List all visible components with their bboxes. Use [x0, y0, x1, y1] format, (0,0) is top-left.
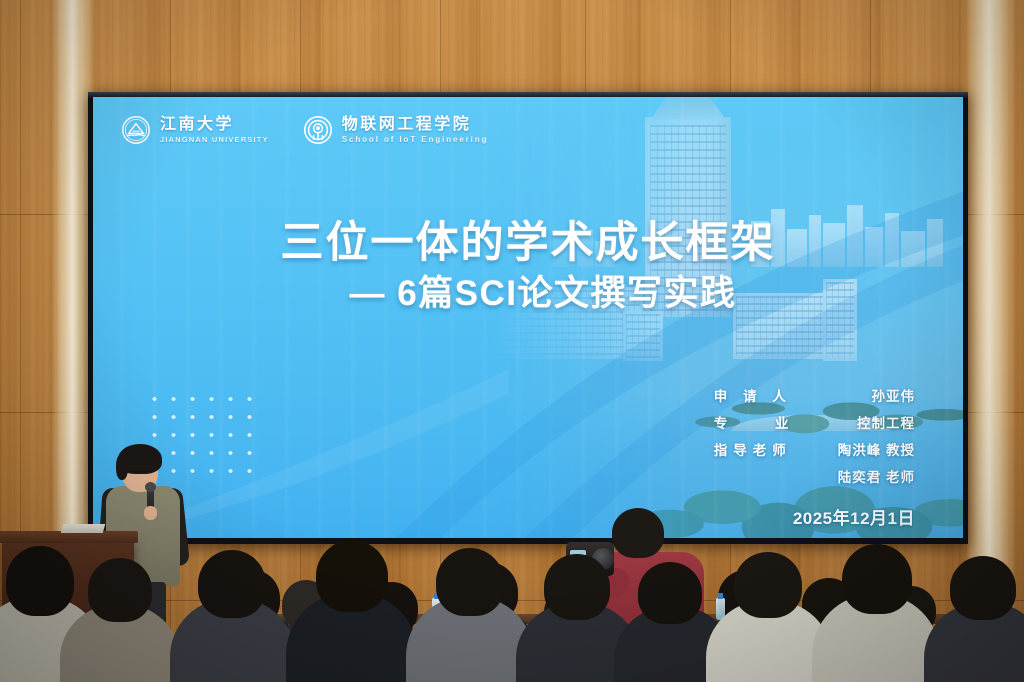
jiangnan-university-logo: 江南大学 JIANGNAN UNIVERSITY: [121, 115, 269, 145]
slide-logo-row: 江南大学 JIANGNAN UNIVERSITY 物联网工程学院: [121, 115, 488, 145]
info-label-advisor: 指导老师: [714, 439, 792, 459]
jiangnan-university-emblem-icon: [121, 115, 151, 145]
jiangnan-university-name-en: JIANGNAN UNIVERSITY: [160, 136, 269, 143]
led-display-bezel: 江南大学 JIANGNAN UNIVERSITY 物联网工程学院: [88, 92, 968, 544]
info-value-advisor-second: 陆奕君 老师: [838, 466, 915, 486]
info-value-applicant: 孙亚伟: [872, 385, 916, 405]
info-row-advisor: 指导老师 陶洪峰 教授: [714, 439, 915, 459]
audience-head-front: [842, 544, 912, 614]
info-label-major: 专 业: [714, 412, 811, 432]
audience-head-front: [734, 552, 802, 618]
audience-head-front: [436, 548, 504, 616]
audience-head-front: [6, 546, 74, 616]
info-label-applicant: 申 请 人: [714, 385, 792, 405]
slide-title-subtitle: — 6篇SCI论文撰写实践: [93, 273, 963, 315]
info-value-major: 控制工程: [857, 412, 915, 432]
audience: [0, 502, 1024, 682]
school-of-iot-name-cn: 物联网工程学院: [342, 117, 489, 133]
jiangnan-university-name-cn: 江南大学: [160, 117, 269, 133]
slide-title-block: 三位一体的学术成长框架 — 6篇SCI论文撰写实践: [93, 219, 963, 315]
school-of-iot-emblem-icon: [303, 115, 333, 145]
info-row-major: 专 业 控制工程: [714, 412, 915, 432]
audience-head-front: [638, 562, 702, 624]
info-value-advisor: 陶洪峰 教授: [838, 439, 915, 459]
audience-head-front: [88, 558, 152, 622]
slide-title-main: 三位一体的学术成长框架: [93, 219, 963, 267]
audience-head-front: [198, 550, 266, 618]
presentation-slide[interactable]: 江南大学 JIANGNAN UNIVERSITY 物联网工程学院: [93, 97, 963, 538]
audience-head-front: [316, 540, 388, 612]
info-row-advisor-second: 陆奕君 老师: [714, 466, 915, 486]
presenter-glasses: [124, 466, 156, 474]
lecture-hall-scene: 江南大学 JIANGNAN UNIVERSITY 物联网工程学院: [0, 0, 1024, 682]
info-row-applicant: 申 请 人 孙亚伟: [714, 385, 915, 405]
school-of-iot-name-en: School of IoT Engineering: [342, 136, 489, 144]
audience-head-front: [950, 556, 1016, 620]
school-of-iot-logo: 物联网工程学院 School of IoT Engineering: [303, 115, 489, 145]
audience-head-front: [544, 554, 610, 620]
